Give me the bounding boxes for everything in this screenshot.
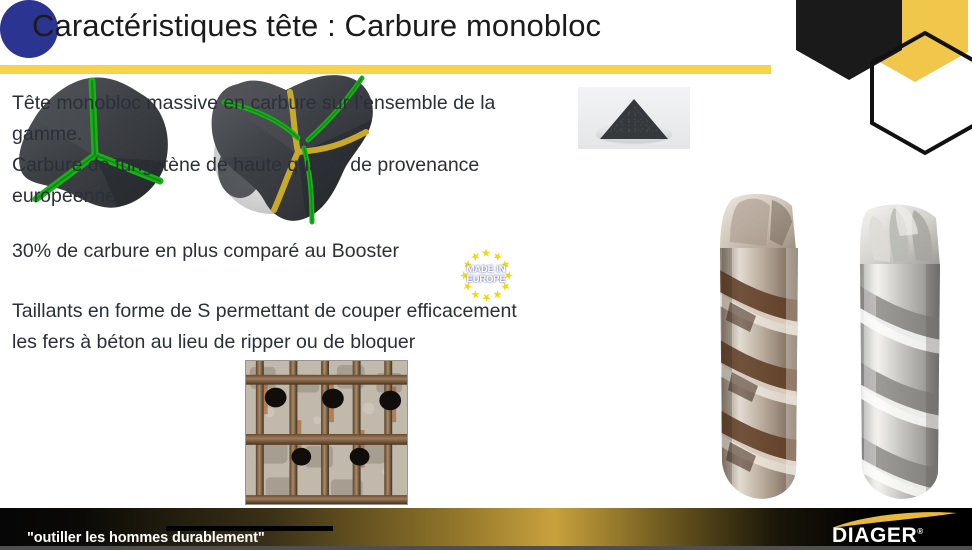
eu-star-icon xyxy=(482,249,491,258)
eu-star-icon xyxy=(469,250,481,262)
eu-star-icon xyxy=(469,288,481,300)
footer-base-strip xyxy=(0,546,972,550)
diager-logo: DIAGER® xyxy=(830,512,958,548)
made-in-europe-badge: MADE IN EUROPE xyxy=(0,0,58,58)
slide-footer: "outiller les hommes durablement" DIAGER… xyxy=(0,508,972,550)
slide-canvas: Caractéristiques tête : Carbure monobloc… xyxy=(0,0,972,550)
eu-star-icon xyxy=(491,288,503,300)
footer-tagline: "outiller les hommes durablement" xyxy=(27,530,265,546)
eu-star-icon xyxy=(482,293,491,302)
logo-text: DIAGER xyxy=(832,524,917,547)
worn-drill-bit-image xyxy=(700,180,812,505)
logo-registered-mark: ® xyxy=(917,527,924,536)
made-in-europe-label: MADE IN EUROPE xyxy=(463,265,509,285)
eu-star-icon xyxy=(491,250,503,262)
concrete-rebar-image xyxy=(245,360,408,505)
badge-line-2: EUROPE xyxy=(463,275,509,285)
new-drill-bit-image xyxy=(842,190,954,505)
logo-wordmark: DIAGER® xyxy=(832,524,924,548)
